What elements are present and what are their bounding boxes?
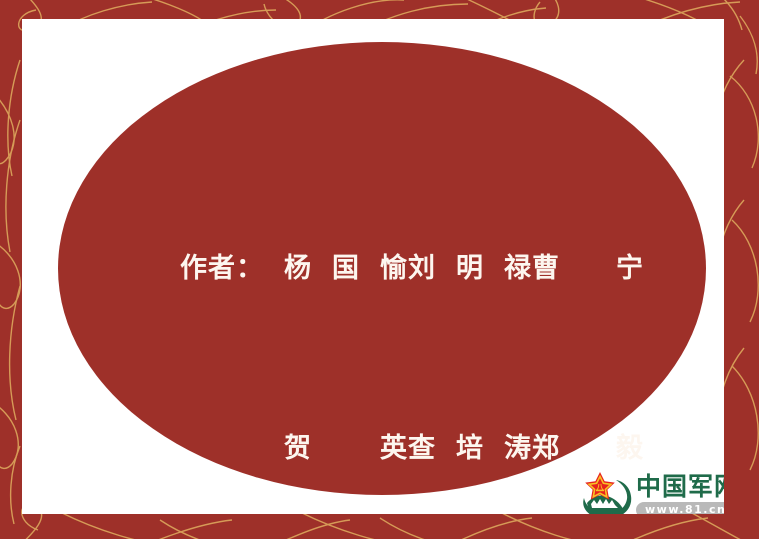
inner-panel: 作者： 杨国愉 刘明禄 曹 宁 贺 英 查培涛 郑 毅 张 颖 <box>22 19 724 514</box>
bayi-star-emblem-icon: 八 <box>578 470 634 514</box>
author-name: 刘明禄 <box>408 246 532 291</box>
credit-row: 作者： 杨国愉 刘明禄 曹 宁 <box>180 246 650 291</box>
author-name: 贺 英 <box>284 426 408 471</box>
author-names: 贺 英 查培涛 郑 毅 <box>284 426 650 471</box>
authors-label: 作者： <box>180 246 284 291</box>
logo-url: www.81.cn <box>636 502 724 515</box>
author-name: 查培涛 <box>408 426 532 471</box>
logo-wordmark: 中国军网 www.81.cn <box>636 473 724 515</box>
author-names: 杨国愉 刘明禄 曹 宁 <box>284 246 650 291</box>
author-name: 曹 宁 <box>532 246 644 291</box>
slide-root: 作者： 杨国愉 刘明禄 曹 宁 贺 英 查培涛 郑 毅 张 颖 <box>0 0 759 539</box>
site-logo: 八 中国军网 www.81.cn <box>578 468 724 514</box>
author-name: 郑 毅 <box>532 426 644 471</box>
author-name: 杨国愉 <box>284 246 408 291</box>
logo-title: 中国军网 <box>636 473 724 500</box>
credits-block: 作者： 杨国愉 刘明禄 曹 宁 贺 英 查培涛 郑 毅 张 颖 <box>180 111 650 514</box>
credit-row: 贺 英 查培涛 郑 毅 <box>180 426 650 471</box>
